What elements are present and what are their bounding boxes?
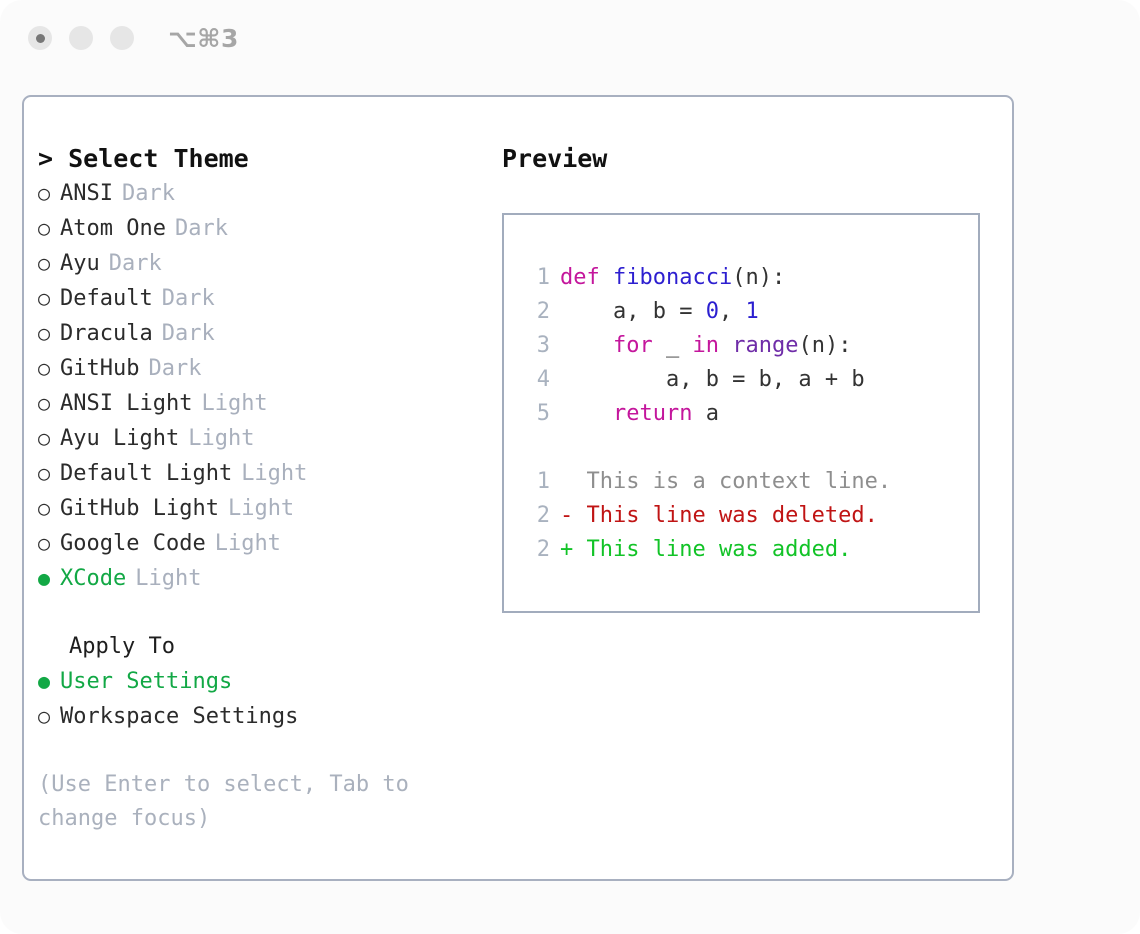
- line-number: 5: [520, 397, 550, 431]
- theme-picker-window: > Select Theme ○ANSIDark○Atom OneDark○Ay…: [22, 95, 1014, 881]
- select-theme-heading: > Select Theme: [38, 142, 478, 176]
- code-token-plain: [560, 397, 613, 431]
- diff-text: This line was added.: [587, 533, 852, 567]
- theme-option-google-code[interactable]: ○Google CodeLight: [38, 526, 478, 561]
- theme-option-default[interactable]: ○DefaultDark: [38, 281, 478, 316]
- apply-to-list: ●User Settings○Workspace Settings: [38, 664, 478, 734]
- diff-marker: -: [560, 499, 587, 533]
- theme-option-default-light[interactable]: ○Default LightLight: [38, 456, 478, 491]
- theme-option-label: Default Light: [60, 457, 232, 491]
- theme-selection-column: > Select Theme ○ANSIDark○Atom OneDark○Ay…: [38, 142, 478, 836]
- line-number: 1: [520, 261, 550, 295]
- line-number: 2: [520, 499, 550, 533]
- code-diff-separator: [520, 431, 891, 465]
- radio-unselected-icon: ○: [38, 246, 60, 280]
- radio-selected-icon: ●: [38, 561, 60, 595]
- code-line: 4 a, b = b, a + b: [520, 363, 891, 397]
- apply-to-option-label: User Settings: [60, 665, 232, 699]
- radio-unselected-icon: ○: [38, 211, 60, 245]
- diff-text: This is a context line.: [587, 465, 892, 499]
- theme-option-category: Light: [188, 422, 254, 456]
- theme-option-label: Google Code: [60, 527, 206, 561]
- window-close-button[interactable]: [28, 26, 52, 50]
- theme-option-ansi[interactable]: ○ANSIDark: [38, 176, 478, 211]
- code-token-plain: a, b = b, a + b: [560, 363, 865, 397]
- diff-line-add: 2+ This line was added.: [520, 533, 891, 567]
- code-token-fn: fibonacci: [613, 261, 732, 295]
- theme-option-label: Ayu Light: [60, 422, 179, 456]
- code-token-plain: a, b =: [560, 295, 706, 329]
- diff-line-del: 2- This line was deleted.: [520, 499, 891, 533]
- code-token-kw: in: [692, 329, 719, 363]
- line-number: 2: [520, 295, 550, 329]
- radio-unselected-icon: ○: [38, 386, 60, 420]
- apply-to-option-workspace-settings[interactable]: ○Workspace Settings: [38, 699, 478, 734]
- code-line: 5 return a: [520, 397, 891, 431]
- diff-text: This line was deleted.: [587, 499, 878, 533]
- theme-option-category: Light: [228, 492, 294, 526]
- theme-option-label: Ayu: [60, 247, 100, 281]
- section-spacer: [38, 596, 478, 630]
- radio-unselected-icon: ○: [38, 699, 60, 733]
- code-token-plain: a: [692, 397, 719, 431]
- code-token-plain: (: [732, 261, 745, 295]
- theme-option-label: GitHub: [60, 352, 139, 386]
- theme-option-label: Dracula: [60, 317, 153, 351]
- apply-to-option-user-settings[interactable]: ●User Settings: [38, 664, 478, 699]
- theme-option-ayu-light[interactable]: ○Ayu LightLight: [38, 421, 478, 456]
- theme-option-label: ANSI: [60, 177, 113, 211]
- radio-unselected-icon: ○: [38, 456, 60, 490]
- radio-unselected-icon: ○: [38, 351, 60, 385]
- preview-box: 1def fibonacci(n):2 a, b = 0, 13 for _ i…: [502, 213, 980, 613]
- theme-option-xcode[interactable]: ●XCodeLight: [38, 561, 478, 596]
- radio-unselected-icon: ○: [38, 421, 60, 455]
- apply-to-heading: Apply To: [38, 630, 478, 664]
- theme-option-category: Light: [241, 457, 307, 491]
- code-token-kw: def: [560, 261, 613, 295]
- code-line: 3 for _ in range(n):: [520, 329, 891, 363]
- code-line: 1def fibonacci(n):: [520, 261, 891, 295]
- theme-option-category: Light: [135, 562, 201, 596]
- theme-option-category: Dark: [122, 177, 175, 211]
- code-preview: 1def fibonacci(n):2 a, b = 0, 13 for _ i…: [520, 261, 891, 567]
- preview-heading: Preview: [502, 142, 997, 176]
- code-token-plain: ):: [759, 261, 786, 295]
- theme-option-label: Default: [60, 282, 153, 316]
- theme-option-category: Light: [215, 527, 281, 561]
- theme-option-category: Light: [201, 387, 267, 421]
- window-minimize-button[interactable]: [69, 26, 93, 50]
- theme-option-category: Dark: [162, 282, 215, 316]
- theme-option-atom-one[interactable]: ○Atom OneDark: [38, 211, 478, 246]
- preview-column: Preview 1def fibonacci(n):2 a, b = 0, 13…: [502, 142, 997, 613]
- window-controls: [28, 26, 134, 50]
- radio-selected-icon: ●: [38, 664, 60, 698]
- theme-option-category: Dark: [162, 317, 215, 351]
- radio-unselected-icon: ○: [38, 281, 60, 315]
- radio-unselected-icon: ○: [38, 176, 60, 210]
- theme-option-label: ANSI Light: [60, 387, 192, 421]
- theme-option-label: GitHub Light: [60, 492, 219, 526]
- code-token-bi: range: [732, 329, 798, 363]
- active-dot-icon: [36, 34, 45, 43]
- radio-unselected-icon: ○: [38, 316, 60, 350]
- line-number: 1: [520, 465, 550, 499]
- code-token-plain: [560, 329, 613, 363]
- theme-option-category: Dark: [109, 247, 162, 281]
- code-token-kw: for: [613, 329, 653, 363]
- code-token-plain: ,: [719, 295, 746, 329]
- line-number: 4: [520, 363, 550, 397]
- apply-to-option-label: Workspace Settings: [60, 700, 298, 734]
- hint-spacer: [38, 734, 478, 768]
- theme-option-github-light[interactable]: ○GitHub LightLight: [38, 491, 478, 526]
- theme-option-ansi-light[interactable]: ○ANSI LightLight: [38, 386, 478, 421]
- line-number: 3: [520, 329, 550, 363]
- app-canvas: ⌥⌘3 > Select Theme ○ANSIDark○Atom OneDar…: [0, 0, 1140, 934]
- theme-option-category: Dark: [175, 212, 228, 246]
- code-token-plain: (n):: [798, 329, 851, 363]
- theme-option-github[interactable]: ○GitHubDark: [38, 351, 478, 386]
- theme-option-label: XCode: [60, 562, 126, 596]
- keyboard-shortcut-label: ⌥⌘3: [168, 24, 239, 53]
- code-token-num: 1: [745, 295, 758, 329]
- title-bar: ⌥⌘3: [0, 0, 1140, 78]
- theme-option-label: Atom One: [60, 212, 166, 246]
- code-token-plain: [719, 329, 732, 363]
- diff-marker: [560, 465, 587, 499]
- code-token-num: 0: [706, 295, 719, 329]
- line-number: 2: [520, 533, 550, 567]
- theme-option-category: Dark: [148, 352, 201, 386]
- code-token-kw: return: [613, 397, 692, 431]
- diff-line-ctx: 1 This is a context line.: [520, 465, 891, 499]
- code-token-plain: _: [653, 329, 693, 363]
- code-line: 2 a, b = 0, 1: [520, 295, 891, 329]
- theme-option-ayu[interactable]: ○AyuDark: [38, 246, 478, 281]
- radio-unselected-icon: ○: [38, 491, 60, 525]
- code-token-plain: n: [745, 261, 758, 295]
- theme-list: ○ANSIDark○Atom OneDark○AyuDark○DefaultDa…: [38, 176, 478, 596]
- theme-option-dracula[interactable]: ○DraculaDark: [38, 316, 478, 351]
- diff-marker: +: [560, 533, 587, 567]
- radio-unselected-icon: ○: [38, 526, 60, 560]
- window-maximize-button[interactable]: [110, 26, 134, 50]
- keyboard-hint-text: (Use Enter to select, Tab to change focu…: [38, 768, 448, 836]
